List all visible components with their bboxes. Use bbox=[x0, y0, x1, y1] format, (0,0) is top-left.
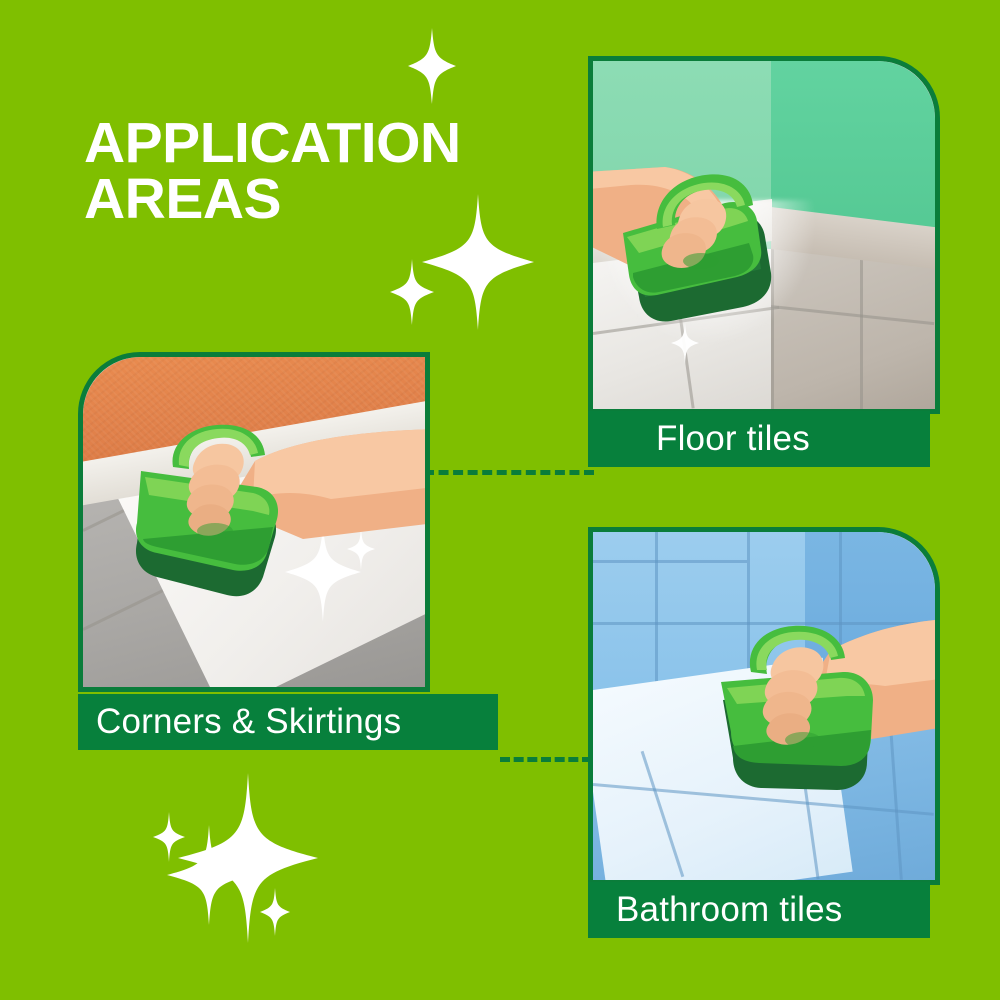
tile-grout-line bbox=[593, 622, 935, 625]
connector-left-to-floor bbox=[424, 470, 594, 475]
floor-tiles-scene bbox=[593, 61, 935, 409]
grout-line bbox=[860, 235, 863, 409]
poster-canvas: APPLICATION AREAS bbox=[0, 0, 1000, 1000]
sparkle-mid-small bbox=[385, 259, 439, 325]
card-floor-tiles[interactable] bbox=[588, 56, 940, 414]
bathroom-tiles-scene bbox=[593, 532, 935, 880]
sparkle-cluster-small-b bbox=[256, 888, 294, 936]
label-floor-tiles: Floor tiles bbox=[588, 411, 930, 467]
label-floor-tiles-text: Floor tiles bbox=[656, 419, 810, 459]
hand-with-scrub-brush bbox=[593, 157, 809, 337]
connector-left-to-bathroom bbox=[500, 757, 592, 762]
label-bathroom-tiles: Bathroom tiles bbox=[588, 882, 930, 938]
sparkle-cluster-small-a bbox=[149, 812, 189, 862]
label-corners-skirtings-text: Corners & Skirtings bbox=[96, 702, 401, 742]
label-bathroom-tiles-text: Bathroom tiles bbox=[616, 890, 843, 930]
card-bathroom-tiles[interactable] bbox=[588, 527, 940, 885]
hand-with-scrub-brush bbox=[703, 628, 935, 818]
page-title: APPLICATION AREAS bbox=[84, 116, 461, 228]
card-corners-skirtings[interactable] bbox=[78, 352, 430, 692]
hand-with-scrub-brush bbox=[135, 435, 425, 595]
label-corners-skirtings: Corners & Skirtings bbox=[78, 694, 498, 750]
tile-grout-line bbox=[593, 560, 747, 563]
corners-skirtings-scene bbox=[83, 357, 425, 687]
sparkle-top bbox=[404, 28, 460, 104]
